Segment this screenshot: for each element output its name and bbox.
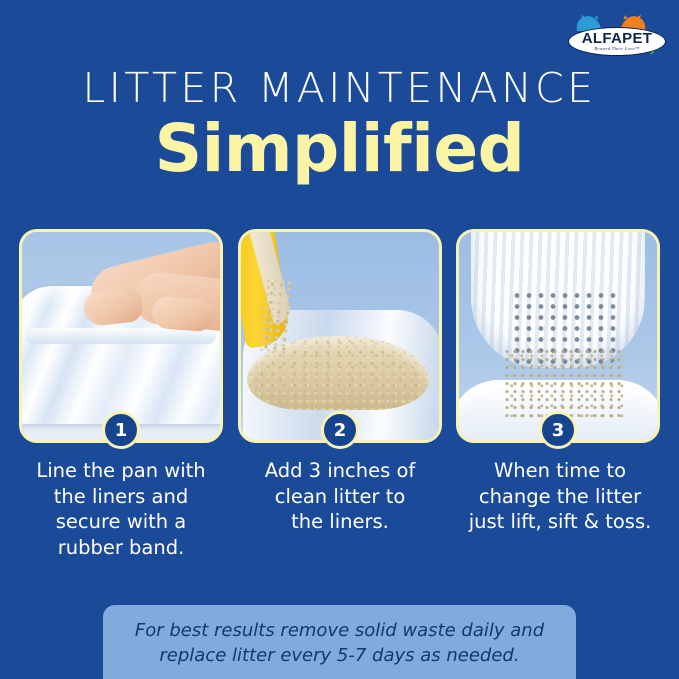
logo-tagline: Reward Their Love™ [594,46,639,52]
logo-oval: ALFAPET Reward Their Love™ [568,27,666,56]
poster-canvas: ALFAPET Reward Their Love™ LITTER MAINTE… [0,0,679,679]
step-badge-1: 1 [102,411,140,449]
footer-note: For best results remove solid waste dail… [135,618,544,668]
step-photo-1 [22,232,220,440]
step-photo-2 [241,232,439,440]
step-badge-2: 2 [321,411,359,449]
page-title-line1: LITTER MAINTENANCE [0,66,679,110]
logo-wordmark: ALFAPET [582,32,652,46]
step-photo-3 [459,232,657,440]
alfapet-logo: ALFAPET Reward Their Love™ [566,14,670,60]
footer-banner: For best results remove solid waste dail… [103,605,576,679]
falling-litter-stream [505,350,625,420]
hand-shape-right [151,296,213,332]
step-caption-2: Add 3 inches of clean litter to the line… [229,458,451,535]
step-badge-3: 3 [539,411,577,449]
page-title-line2: Simplified [0,110,679,188]
step-caption-1: Line the pan with the liners and secure … [10,458,232,560]
step-caption-3: When time to change the litter just lift… [444,458,676,535]
